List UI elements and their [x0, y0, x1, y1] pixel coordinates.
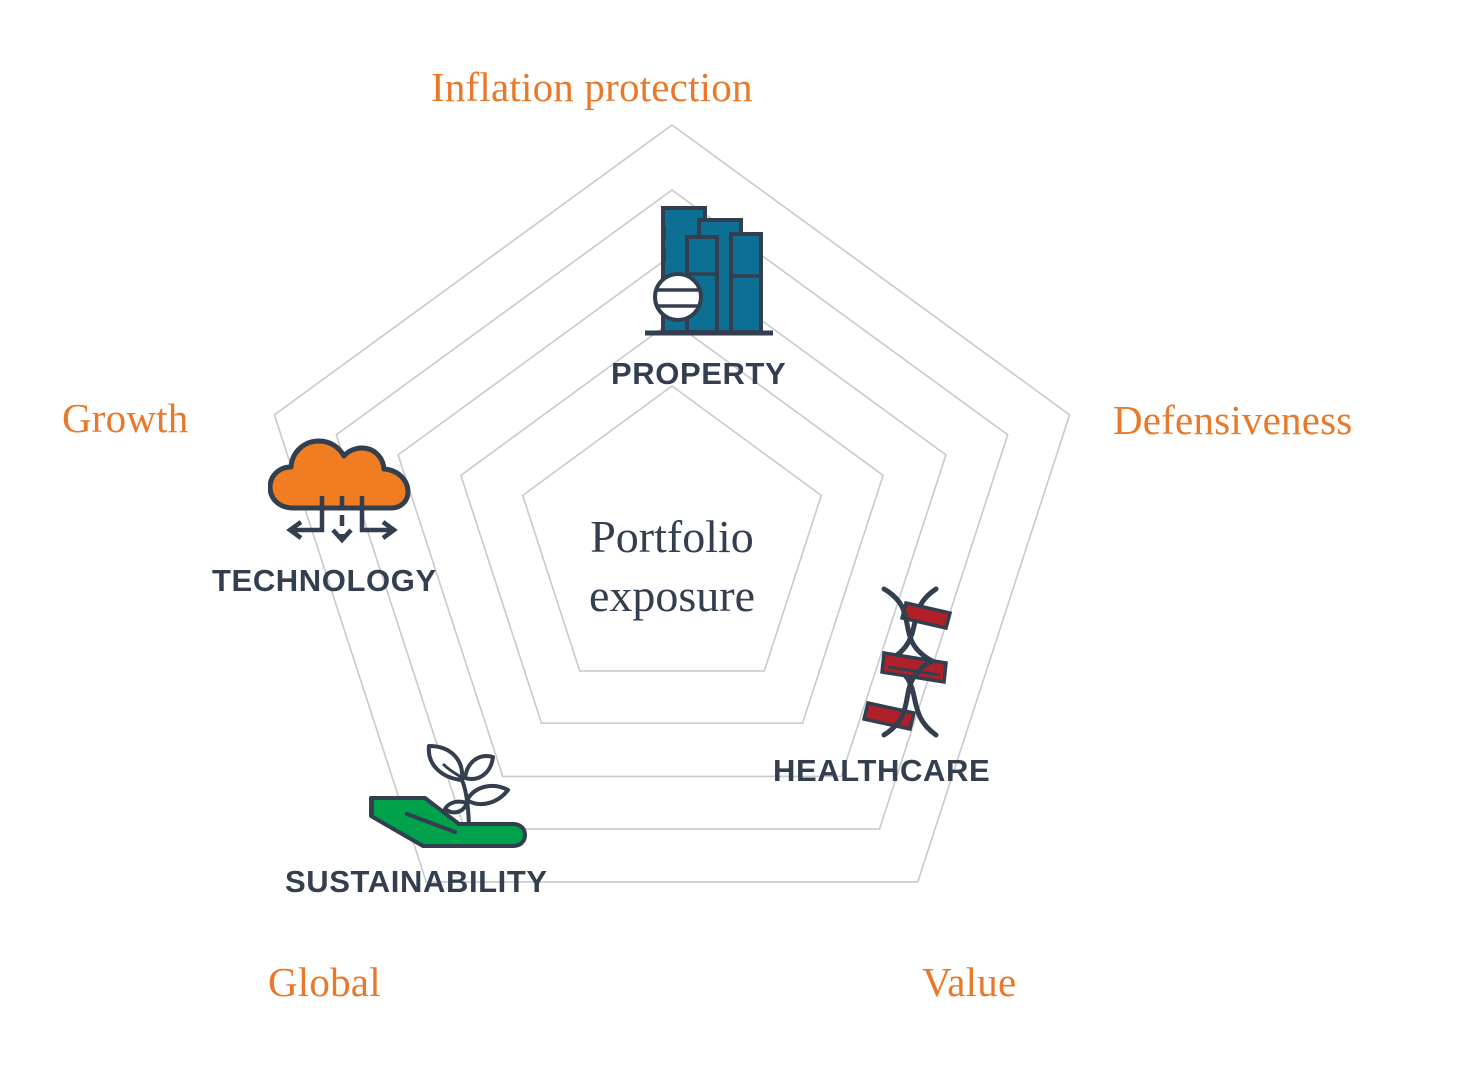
diagram-canvas: Inflation protection Growth Defensivenes…: [0, 0, 1474, 1070]
axis-label-inflation-protection: Inflation protection: [431, 67, 753, 108]
sector-label-technology: TECHNOLOGY: [212, 565, 437, 596]
technology-icon-group: [268, 430, 416, 552]
hand-plant-icon: [363, 740, 533, 858]
axis-label-defensiveness: Defensiveness: [1113, 400, 1352, 441]
sector-label-property: PROPERTY: [611, 358, 786, 389]
sector-label-healthcare: HEALTHCARE: [773, 755, 990, 786]
healthcare-icon-group: [858, 583, 962, 743]
sustainability-icon-group: [363, 740, 533, 858]
axis-label-growth: Growth: [62, 398, 188, 439]
office-buildings-icon: [639, 196, 779, 341]
sector-label-sustainability: SUSTAINABILITY: [285, 866, 548, 897]
cloud-arrows-icon: [268, 430, 416, 552]
axis-label-value: Value: [922, 962, 1016, 1003]
dna-helix-icon: [858, 583, 962, 743]
property-icon-group: [639, 196, 779, 341]
center-caption: Portfolio exposure: [497, 508, 847, 626]
axis-label-global: Global: [268, 962, 381, 1003]
